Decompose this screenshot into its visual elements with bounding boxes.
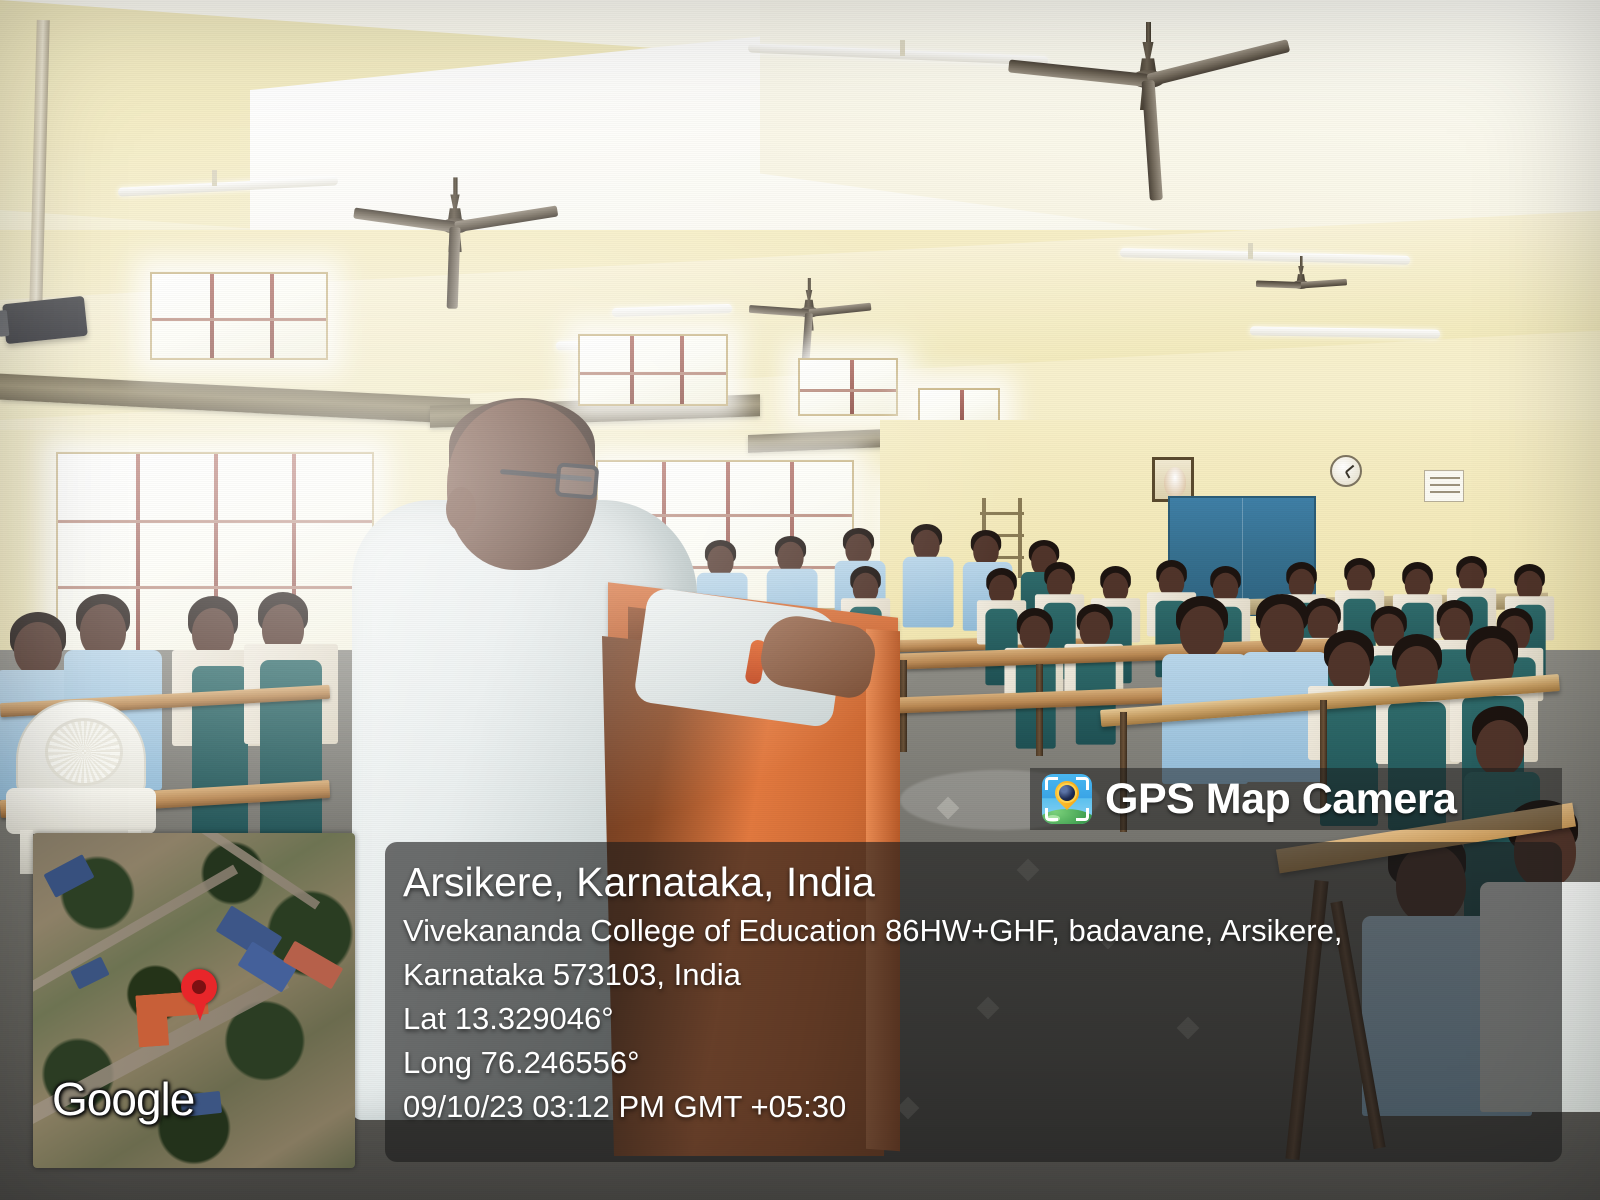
wall-clock <box>1330 455 1362 487</box>
wall-sign <box>1424 470 1464 502</box>
capture-timestamp: 09/10/23 03:12 PM GMT +05:30 <box>403 1085 1562 1129</box>
location-latitude: Lat 13.329046° <box>403 997 1562 1041</box>
location-address-line-1: Vivekananda College of Education 86HW+GH… <box>403 909 1562 953</box>
screenshot-root: Google GPS Map Camera Arsikere, Karnatak… <box>0 0 1600 1200</box>
ceiling-fan-1 <box>1130 22 1166 114</box>
location-place: Arsikere, Karnataka, India <box>403 858 1562 906</box>
window-upper-center <box>578 334 728 406</box>
location-longitude: Long 76.246556° <box>403 1041 1562 1085</box>
window-upper-center-right <box>798 358 898 416</box>
map-building <box>283 941 343 990</box>
map-pin-tail <box>191 995 209 1021</box>
ceiling-fan-3 <box>802 278 815 308</box>
google-watermark: Google <box>52 1072 194 1126</box>
ceiling-fan-4 <box>1297 256 1306 276</box>
ceiling-fan-2 <box>442 177 468 238</box>
location-info-panel: Arsikere, Karnataka, India Vivekananda C… <box>385 842 1562 1162</box>
gps-camera-pin-icon <box>1042 774 1092 824</box>
map-building <box>43 854 94 898</box>
projector <box>2 296 88 344</box>
tube-light-bracket-2 <box>900 40 905 56</box>
location-address-line-2: Karnataka 573103, India <box>403 953 1562 997</box>
eyeglasses-lens <box>555 462 600 500</box>
gps-map-camera-badge: GPS Map Camera <box>1030 768 1562 830</box>
tube-light-bracket-1 <box>212 170 217 186</box>
speaker-ear <box>446 487 476 531</box>
window-upper-left <box>150 272 328 360</box>
tube-light-bracket-3 <box>1248 243 1253 259</box>
gps-map-camera-title: GPS Map Camera <box>1105 778 1456 821</box>
bench-leg <box>1036 664 1043 756</box>
